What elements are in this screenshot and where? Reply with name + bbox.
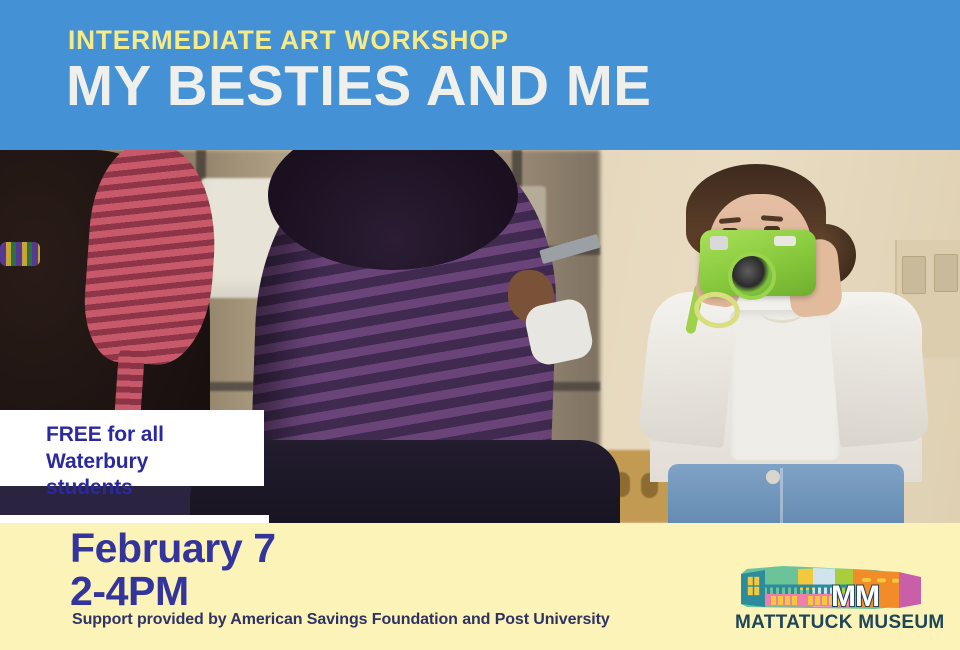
callout-free-kids-adventure-passholders: FREE for Kid’s Adventure Passholders — [0, 515, 269, 523]
camera-viewfinder — [710, 236, 728, 250]
camera-flash — [774, 236, 796, 246]
poster-header: INTERMEDIATE ART WORKSHOP MY BESTIES AND… — [0, 0, 960, 150]
girl-jeans — [668, 464, 904, 523]
jeans-button — [766, 470, 780, 484]
event-date-time: February 7 2-4PM — [70, 527, 276, 613]
camera-lens — [728, 252, 776, 300]
jeans-seam — [780, 468, 783, 523]
poster-title: MY BESTIES AND ME — [66, 58, 651, 115]
hair-beads — [0, 242, 40, 266]
girl-right-sleeve — [828, 300, 930, 447]
museum-name: MATTATUCK MUSEUM — [735, 612, 931, 634]
student-with-camera — [648, 164, 928, 523]
event-photo: FREE for all Waterbury students FREE for… — [0, 150, 960, 523]
workshop-eyebrow: INTERMEDIATE ART WORKSHOP — [68, 27, 509, 54]
callout-free-waterbury-students: FREE for all Waterbury students — [0, 410, 264, 486]
museum-monogram: MM — [831, 582, 879, 612]
mattatuck-museum-logo: MM MATTATUCK MUSEUM — [735, 560, 931, 638]
support-credit: Support provided by American Savings Fou… — [72, 611, 610, 629]
girl-white-top — [730, 310, 840, 460]
event-poster: INTERMEDIATE ART WORKSHOP MY BESTIES AND… — [0, 0, 960, 650]
wall-outlet — [934, 254, 958, 292]
